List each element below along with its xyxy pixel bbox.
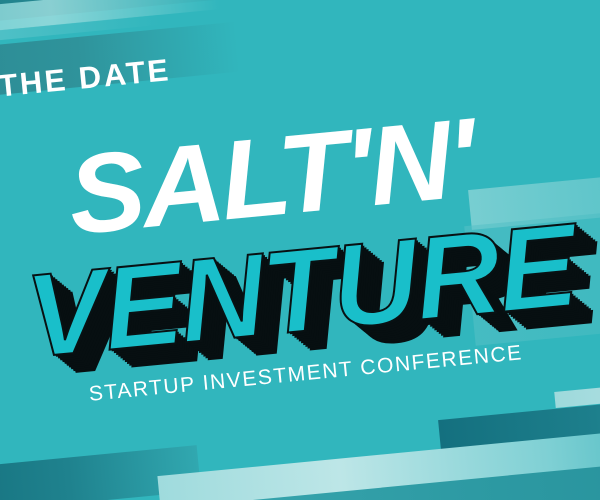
- decorative-band-bottom-left-dark: [0, 445, 201, 500]
- decorative-band-top-left-light: [0, 0, 220, 36]
- decorative-band-bottom-mid: [148, 458, 600, 500]
- event-poster: E THE DATE SALT'N' VENTURE STARTUP INVES…: [0, 0, 600, 500]
- decorative-band-top-left-light-thin: [0, 15, 160, 44]
- save-the-date-kicker: E THE DATE: [0, 52, 172, 108]
- decorative-band-bottom-right-light: [554, 381, 600, 408]
- decorative-band-dark-top: [0, 0, 501, 32]
- decorative-band-bottom-right-dark: [438, 395, 600, 460]
- decorative-band-bottom-light: [157, 426, 600, 500]
